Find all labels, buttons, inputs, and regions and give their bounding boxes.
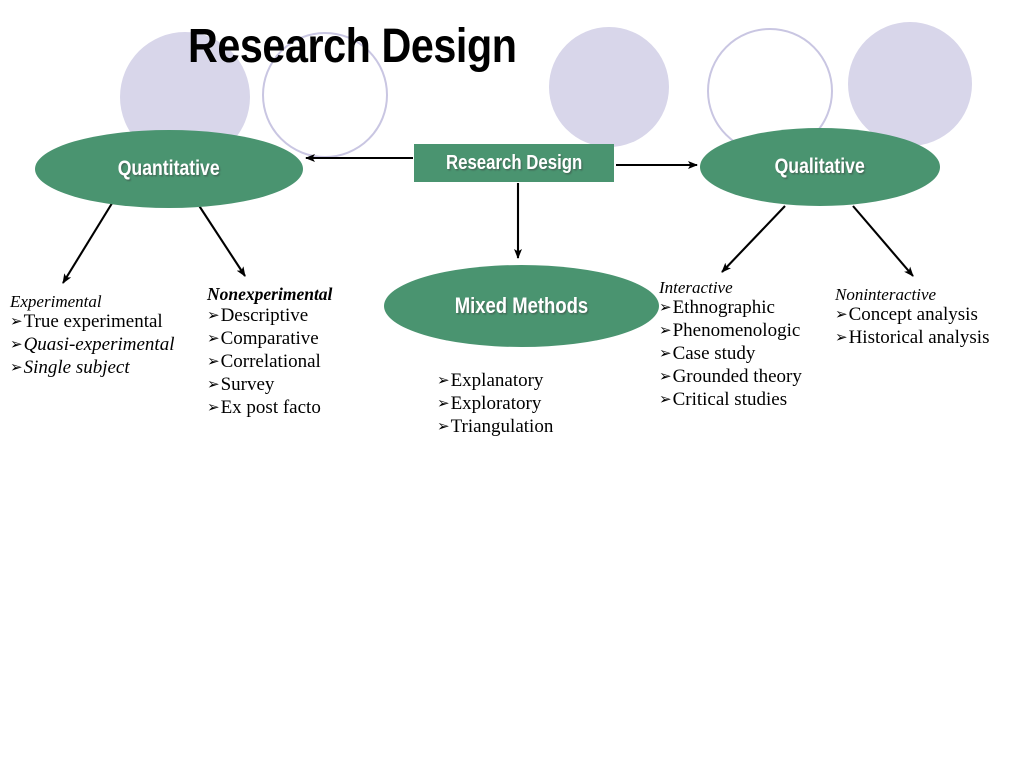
list-item-label: Concept analysis — [849, 304, 978, 327]
list-item: ➢Concept analysis — [835, 304, 989, 327]
list-item: ➢Ex post facto — [207, 397, 332, 420]
branch-nonexperimental-heading: Nonexperimental — [207, 285, 332, 305]
branch-nonexperimental-list: ➢Descriptive➢Comparative➢Correlational➢S… — [207, 305, 332, 420]
list-item-label: Critical studies — [673, 389, 788, 412]
bullet-arrow-icon: ➢ — [207, 331, 220, 346]
branch-interactive-heading: Interactive — [659, 278, 802, 297]
arrow-quantitative-to-experimental — [63, 200, 114, 283]
bullet-arrow-icon: ➢ — [437, 396, 450, 411]
bullet-arrow-icon: ➢ — [437, 419, 450, 434]
node-mixed-methods-label: Mixed Methods — [455, 293, 588, 319]
list-item-label: Exploratory — [451, 393, 542, 416]
bullet-arrow-icon: ➢ — [659, 346, 672, 361]
branch-nonexperimental: Nonexperimental ➢Descriptive➢Comparative… — [207, 285, 332, 420]
list-item: ➢Ethnographic — [659, 297, 802, 320]
branch-mixed-methods: ➢Explanatory➢Exploratory➢Triangulation — [437, 370, 553, 439]
slide-canvas: Research Design Quantitative Research De… — [0, 0, 1024, 768]
bullet-arrow-icon: ➢ — [207, 308, 220, 323]
list-item: ➢Comparative — [207, 328, 332, 351]
list-item-label: Quasi-experimental — [24, 334, 175, 357]
bullet-arrow-icon: ➢ — [659, 300, 672, 315]
list-item: ➢Historical analysis — [835, 327, 989, 350]
list-item-label: Comparative — [221, 328, 319, 351]
bullet-arrow-icon: ➢ — [659, 392, 672, 407]
branch-experimental-list: ➢True experimental➢Quasi-experimental➢Si… — [10, 311, 174, 380]
bullet-arrow-icon: ➢ — [207, 377, 220, 392]
list-item: ➢Single subject — [10, 357, 174, 380]
bullet-arrow-icon: ➢ — [835, 330, 848, 345]
bullet-arrow-icon: ➢ — [437, 373, 450, 388]
bullet-arrow-icon: ➢ — [659, 369, 672, 384]
list-item-label: Descriptive — [221, 305, 309, 328]
branch-interactive-list: ➢Ethnographic➢Phenomenologic➢Case study➢… — [659, 297, 802, 412]
list-item: ➢Case study — [659, 343, 802, 366]
slide-title: Research Design — [188, 22, 549, 72]
list-item-label: Historical analysis — [849, 327, 990, 350]
branch-experimental: Experimental ➢True experimental➢Quasi-ex… — [10, 292, 174, 380]
bullet-arrow-icon: ➢ — [10, 337, 23, 352]
list-item-label: Ex post facto — [221, 397, 321, 420]
list-item-label: Ethnographic — [673, 297, 775, 320]
list-item-label: Single subject — [24, 357, 130, 380]
node-quantitative[interactable]: Quantitative — [35, 130, 303, 208]
list-item: ➢Exploratory — [437, 393, 553, 416]
arrow-qualitative-to-noninteractive — [853, 206, 913, 276]
node-qualitative-label: Qualitative — [775, 155, 865, 179]
branch-noninteractive-heading: Noninteractive — [835, 285, 989, 304]
list-item-label: Phenomenologic — [673, 320, 801, 343]
list-item-label: Case study — [673, 343, 756, 366]
list-item: ➢Survey — [207, 374, 332, 397]
list-item-label: Correlational — [221, 351, 321, 374]
list-item: ➢Correlational — [207, 351, 332, 374]
list-item-label: True experimental — [24, 311, 163, 334]
node-research-design[interactable]: Research Design — [414, 144, 614, 182]
bullet-arrow-icon: ➢ — [207, 354, 220, 369]
list-item-label: Grounded theory — [673, 366, 802, 389]
arrow-quantitative-to-nonexperimental — [196, 201, 245, 276]
list-item: ➢Grounded theory — [659, 366, 802, 389]
branch-experimental-heading: Experimental — [10, 292, 174, 311]
bullet-arrow-icon: ➢ — [207, 400, 220, 415]
node-qualitative[interactable]: Qualitative — [700, 128, 940, 206]
bullet-arrow-icon: ➢ — [10, 360, 23, 375]
branch-noninteractive: Noninteractive ➢Concept analysis➢Histori… — [835, 285, 989, 350]
list-item: ➢Descriptive — [207, 305, 332, 328]
node-mixed-methods[interactable]: Mixed Methods — [384, 265, 659, 347]
list-item-label: Survey — [221, 374, 275, 397]
bullet-arrow-icon: ➢ — [10, 314, 23, 329]
list-item-label: Triangulation — [451, 416, 554, 439]
list-item: ➢Critical studies — [659, 389, 802, 412]
list-item: ➢Triangulation — [437, 416, 553, 439]
arrow-qualitative-to-interactive — [722, 206, 785, 272]
list-item: ➢Explanatory — [437, 370, 553, 393]
node-quantitative-label: Quantitative — [118, 157, 220, 181]
list-item-label: Explanatory — [451, 370, 544, 393]
branch-interactive: Interactive ➢Ethnographic➢Phenomenologic… — [659, 278, 802, 412]
list-item: ➢Quasi-experimental — [10, 334, 174, 357]
branch-noninteractive-list: ➢Concept analysis➢Historical analysis — [835, 304, 989, 350]
bullet-arrow-icon: ➢ — [659, 323, 672, 338]
list-item: ➢Phenomenologic — [659, 320, 802, 343]
node-research-design-label: Research Design — [446, 152, 582, 175]
list-item: ➢True experimental — [10, 311, 174, 334]
bullet-arrow-icon: ➢ — [835, 307, 848, 322]
branch-mixed-methods-list: ➢Explanatory➢Exploratory➢Triangulation — [437, 370, 553, 439]
